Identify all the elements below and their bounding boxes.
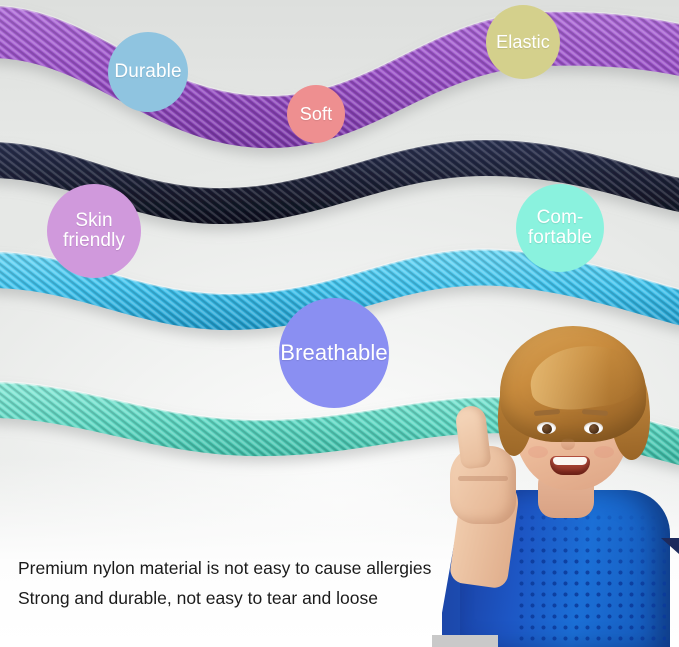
badge-label: Com- xyxy=(524,208,596,228)
boy-shirt-dot-pattern xyxy=(516,512,666,647)
badge-label: Durable xyxy=(110,62,185,82)
boy-cheek-left xyxy=(528,446,548,458)
badge-label: Soft xyxy=(296,105,336,124)
boy-knuckles xyxy=(458,476,508,481)
boy-cheek-right xyxy=(594,446,614,458)
caption-line-1: Premium nylon material is not easy to ca… xyxy=(18,553,488,583)
boy-thumb-up xyxy=(454,404,491,469)
badge-label: fortable xyxy=(524,228,596,248)
badge-elastic: Elastic xyxy=(486,5,560,79)
badge-label: Elastic xyxy=(492,33,554,52)
boy-nose xyxy=(561,438,575,450)
boy-teeth xyxy=(553,457,587,465)
badge-label: friendly xyxy=(59,231,129,251)
badge-skin-friendly: Skinfriendly xyxy=(47,184,141,278)
badge-label: Skin xyxy=(59,211,129,231)
product-infographic: Durable Elastic Soft Skinfriendly Com-fo… xyxy=(0,0,679,647)
caption-line-2: Strong and durable, not easy to tear and… xyxy=(18,583,488,613)
boy-iris-left xyxy=(542,424,552,434)
boy-iris-right xyxy=(589,424,599,434)
badge-comfortable: Com-fortable xyxy=(516,184,604,272)
badge-soft: Soft xyxy=(287,85,345,143)
caption-block: Premium nylon material is not easy to ca… xyxy=(18,553,488,613)
bottom-grey-chip xyxy=(432,635,498,647)
badge-durable: Durable xyxy=(108,32,188,112)
badge-label: Breathable xyxy=(276,342,391,365)
badge-breathable: Breathable xyxy=(279,298,389,408)
